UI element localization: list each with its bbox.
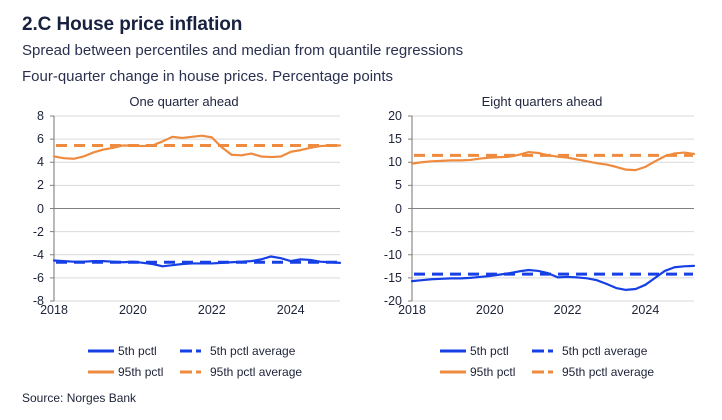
y-tick-label: -10: [384, 248, 402, 262]
x-tick-label: 2018: [398, 303, 426, 317]
chart-legend: 5th pctl95th pctl5th pctl average95th pc…: [0, 340, 722, 386]
y-tick-label: 8: [37, 109, 44, 123]
legend-column: 5th pctl95th pctl: [440, 340, 515, 382]
y-tick-label: 15: [388, 132, 402, 146]
x-tick-label: 2024: [277, 303, 305, 317]
legend-column: 5th pctl average95th pctl average: [532, 340, 654, 382]
legend-swatch-solid-icon: [440, 345, 466, 356]
legend-swatch-dashed-icon: [532, 366, 558, 377]
legend-swatch-solid-icon: [88, 345, 114, 356]
plot-area-left: [54, 116, 340, 301]
y-tick-label: -4: [33, 248, 44, 262]
y-tick-label: -15: [384, 271, 402, 285]
x-tick-label: 2020: [476, 303, 504, 317]
legend-item[interactable]: 5th pctl: [440, 340, 515, 361]
page-subtitle-2: Four-quarter change in house prices. Per…: [22, 68, 393, 85]
legend-label: 95th pctl: [118, 365, 163, 379]
x-tick-label: 2022: [198, 303, 226, 317]
chart-page: 2.C House price inflation Spread between…: [0, 0, 722, 420]
legend-item[interactable]: 5th pctl average: [180, 340, 302, 361]
y-tick-label: -6: [33, 271, 44, 285]
legend-label: 5th pctl average: [210, 344, 295, 358]
y-axis-labels-left: 86420-2-4-6-8: [8, 116, 48, 301]
legend-item[interactable]: 5th pctl average: [532, 340, 654, 361]
legend-swatch-solid-icon: [88, 366, 114, 377]
page-title: 2.C House price inflation: [22, 14, 242, 36]
legend-label: 95th pctl average: [210, 365, 302, 379]
legend-label: 5th pctl: [118, 344, 157, 358]
legend-item[interactable]: 95th pctl average: [180, 361, 302, 382]
legend-swatch-dashed-icon: [180, 345, 206, 356]
plot-area-right: [412, 116, 694, 301]
y-tick-label: 10: [388, 155, 402, 169]
legend-column: 5th pctl average95th pctl average: [180, 340, 302, 382]
legend-item[interactable]: 5th pctl: [88, 340, 163, 361]
y-tick-label: 4: [37, 155, 44, 169]
legend-item[interactable]: 95th pctl average: [532, 361, 654, 382]
y-tick-label: 6: [37, 132, 44, 146]
legend-swatch-solid-icon: [440, 366, 466, 377]
y-tick-label: 2: [37, 178, 44, 192]
legend-label: 95th pctl average: [562, 365, 654, 379]
legend-item[interactable]: 95th pctl: [440, 361, 515, 382]
y-tick-label: -5: [391, 225, 402, 239]
legend-label: 95th pctl: [470, 365, 515, 379]
legend-swatch-dashed-icon: [180, 366, 206, 377]
x-tick-label: 2022: [554, 303, 582, 317]
y-tick-label: 0: [37, 202, 44, 216]
legend-label: 5th pctl average: [562, 344, 647, 358]
legend-item[interactable]: 95th pctl: [88, 361, 163, 382]
chart-panel-eight-quarters-ahead: Eight quarters ahead 20151050-5-10-15-20…: [368, 94, 716, 324]
legend-swatch-dashed-icon: [532, 345, 558, 356]
page-subtitle-1: Spread between percentiles and median fr…: [22, 42, 463, 59]
x-axis-labels-right: 2018202020222024: [412, 303, 694, 325]
source-note: Source: Norges Bank: [22, 391, 136, 405]
x-tick-label: 2018: [40, 303, 68, 317]
y-tick-label: 5: [395, 178, 402, 192]
x-axis-labels-left: 2018202020222024: [54, 303, 340, 325]
chart-title-right: Eight quarters ahead: [368, 94, 716, 109]
chart-title-left: One quarter ahead: [8, 94, 360, 109]
x-tick-label: 2024: [631, 303, 659, 317]
chart-panel-one-quarter-ahead: One quarter ahead 86420-2-4-6-8 20182020…: [8, 94, 360, 324]
x-tick-label: 2020: [119, 303, 147, 317]
legend-label: 5th pctl: [470, 344, 509, 358]
y-axis-labels-right: 20151050-5-10-15-20: [368, 116, 406, 301]
legend-column: 5th pctl95th pctl: [88, 340, 163, 382]
y-tick-label: 20: [388, 109, 402, 123]
y-tick-label: 0: [395, 202, 402, 216]
y-tick-label: -2: [33, 225, 44, 239]
